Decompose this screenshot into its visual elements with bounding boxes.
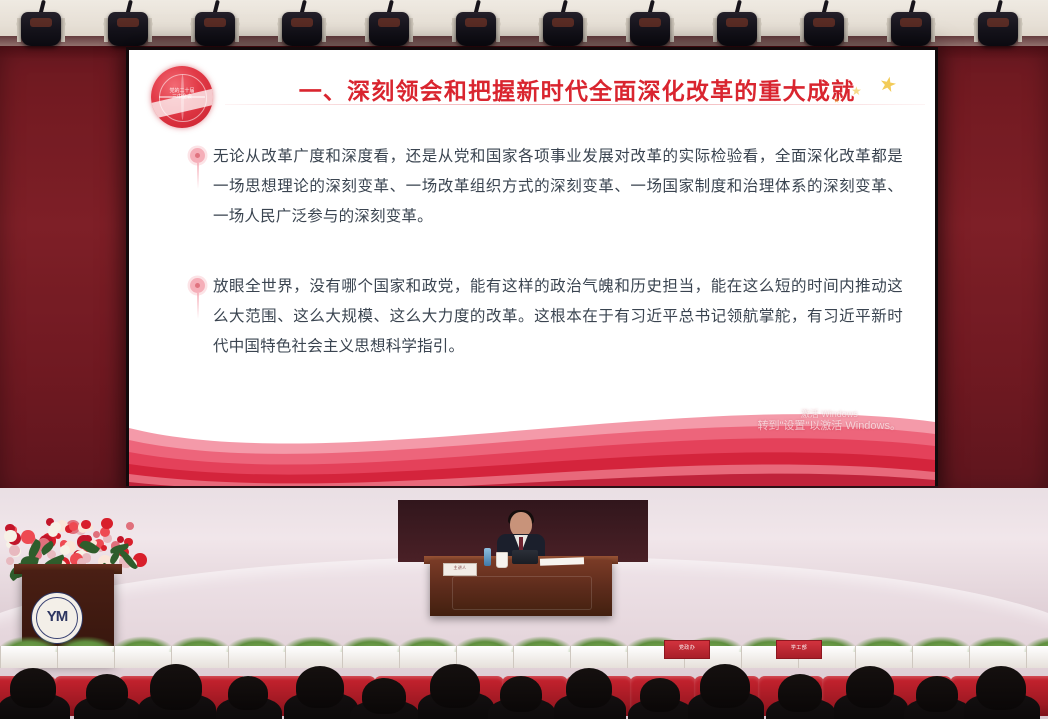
flower (4, 530, 17, 543)
audience-member (228, 676, 268, 710)
wall-panel-right (938, 46, 1048, 496)
water-bottle (484, 548, 491, 566)
star-icon: ★ (851, 84, 862, 98)
spotlight-icon (449, 4, 503, 48)
audience-seating: 党政办学工部 (0, 662, 1048, 719)
cup (496, 552, 508, 568)
spotlight-icon (710, 4, 764, 48)
presentation-slide: 党的二十届三中全会 一、深刻领会和把握新时代全面深化改革的重大成就 ★ ★ ★ … (129, 50, 935, 492)
audience-member (296, 666, 344, 708)
ribbon-wave-decoration (129, 382, 935, 492)
flower (101, 518, 112, 529)
bullet-text: 放眼全世界，没有哪个国家和政党，能有这样的政治气魄和历史担当，能在这么短的时间内… (213, 272, 903, 362)
flower (50, 522, 61, 533)
watermark-line-2: 转到"设置"以激活 Windows。 (758, 420, 902, 434)
bullet-text: 无论从改革广度和深度看，还是从党和国家各项事业发展对改革的实际检验看，全面深化改… (213, 142, 903, 232)
speaker-nameplate: 主讲人 (443, 563, 477, 576)
spotlight-icon (188, 4, 242, 48)
seat-placard: 党政办 (664, 640, 710, 659)
spotlight-icon (623, 4, 677, 48)
gold-stars-decoration: ★ ★ ★ (827, 70, 917, 114)
spotlight-icon (14, 4, 68, 48)
spotlight-icon (101, 4, 155, 48)
placard-text: 学工部 (777, 644, 821, 651)
conference-emblem-icon: 党的二十届三中全会 (151, 66, 213, 128)
desk-front-panel (452, 576, 592, 610)
spotlight-icon (362, 4, 416, 48)
nameplate-text: 主讲人 (444, 565, 476, 571)
spotlight-icon (971, 4, 1025, 48)
audience-member (976, 666, 1026, 710)
audience-member (10, 668, 56, 708)
wall-panel-left (0, 46, 126, 496)
spotlight-icon (275, 4, 329, 48)
flower (93, 531, 100, 538)
flower (101, 545, 107, 551)
pin-marker-icon (187, 148, 213, 182)
seat-placard: 学工部 (776, 640, 822, 659)
audience-member (150, 664, 202, 710)
flower (117, 536, 124, 543)
laptop (512, 550, 538, 564)
audience-member (846, 666, 894, 708)
spotlight-icon (797, 4, 851, 48)
windows-activation-watermark: 激活 Windows 转到"设置"以激活 Windows。 (758, 409, 902, 434)
audience-member (700, 664, 750, 708)
star-icon: ★ (877, 70, 900, 98)
projection-screen: 党的二十届三中全会 一、深刻领会和把握新时代全面深化改革的重大成就 ★ ★ ★ … (126, 47, 938, 495)
bullet-item: 无论从改革广度和深度看，还是从党和国家各项事业发展对改革的实际检验看，全面深化改… (187, 142, 903, 232)
audience-member (86, 674, 128, 710)
audience-member (916, 676, 958, 712)
audience-member (362, 678, 406, 714)
flower (126, 522, 134, 530)
spotlight-icon (536, 4, 590, 48)
watermark-line-1: 激活 Windows (758, 409, 902, 420)
slide-title: 一、深刻领会和把握新时代全面深化改革的重大成就 (257, 72, 897, 106)
pin-marker-icon (187, 278, 213, 312)
spotlight-icon (884, 4, 938, 48)
auditorium-scene: 党的二十届三中全会 一、深刻领会和把握新时代全面深化改革的重大成就 ★ ★ ★ … (0, 0, 1048, 719)
slide-body: 无论从改革广度和深度看，还是从党和国家各项事业发展对改革的实际检验看，全面深化改… (187, 142, 903, 402)
audience-member (640, 678, 680, 712)
placard-text: 党政办 (665, 644, 709, 651)
audience-member (430, 664, 480, 708)
audience-member (500, 676, 542, 712)
bullet-item: 放眼全世界，没有哪个国家和政党，能有这样的政治气魄和历史担当，能在这么短的时间内… (187, 272, 903, 362)
seal-monogram: YM (32, 608, 82, 625)
audience-member (778, 674, 822, 712)
title-divider (225, 104, 925, 105)
audience-member (566, 668, 612, 708)
